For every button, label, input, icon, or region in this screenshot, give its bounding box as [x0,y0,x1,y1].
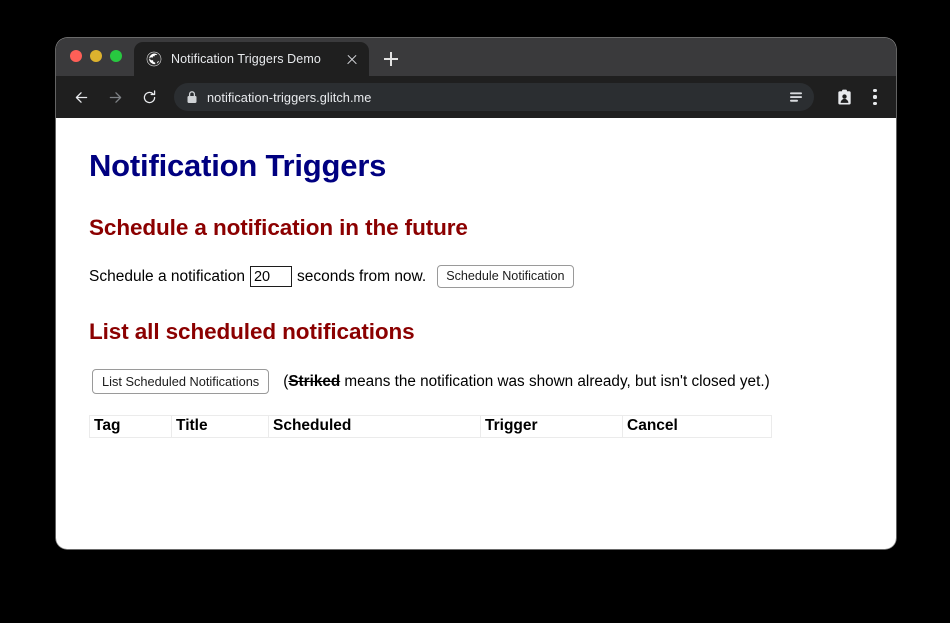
address-bar-url: notification-triggers.glitch.me [207,90,786,105]
minimize-window-button[interactable] [90,50,102,62]
profile-card-icon[interactable] [830,88,858,107]
menu-dot [873,95,876,98]
plus-icon[interactable] [377,45,405,73]
reading-list-icon[interactable] [786,88,806,106]
tab-strip: Notification Triggers Demo [56,38,896,76]
notifications-table: Tag Title Scheduled Trigger Cancel [89,415,772,438]
table-header-trigger: Trigger [481,416,623,438]
browser-toolbar: notification-triggers.glitch.me [56,76,896,118]
table-header-row: Tag Title Scheduled Trigger Cancel [90,416,772,438]
seconds-input[interactable] [250,266,292,287]
list-scheduled-notifications-button[interactable]: List Scheduled Notifications [92,369,269,394]
list-form-row: List Scheduled Notifications (Striked me… [89,369,880,394]
lock-icon [186,90,198,104]
table-header-title: Title [172,416,269,438]
maximize-window-button[interactable] [110,50,122,62]
schedule-label-before: Schedule a notification [89,268,245,286]
table-header-cancel: Cancel [623,416,772,438]
list-note-rest: means the notification was shown already… [340,373,769,390]
window-traffic-lights [70,50,122,62]
close-icon[interactable] [343,50,361,68]
browser-tab-active[interactable]: Notification Triggers Demo [134,42,369,76]
list-note: (Striked means the notification was show… [283,373,769,391]
schedule-label-after: seconds from now. [297,268,426,286]
table-header-scheduled: Scheduled [269,416,481,438]
table-header-tag: Tag [90,416,172,438]
menu-dot [873,89,876,92]
address-bar[interactable]: notification-triggers.glitch.me [174,83,814,111]
schedule-form-row: Schedule a notification seconds from now… [89,265,880,288]
back-arrow-icon[interactable] [66,82,96,112]
schedule-notification-button[interactable]: Schedule Notification [437,265,573,288]
browser-tab-title: Notification Triggers Demo [171,52,337,66]
page-viewport: Notification Triggers Schedule a notific… [56,118,896,549]
browser-window: Notification Triggers Demo [56,38,896,549]
reload-icon[interactable] [134,82,164,112]
schedule-section-heading: Schedule a notification in the future [89,215,880,241]
page-title: Notification Triggers [89,148,880,184]
list-section-heading: List all scheduled notifications [89,319,880,345]
forward-arrow-icon [100,82,130,112]
three-dot-menu-icon[interactable] [864,83,886,111]
page-content: Notification Triggers Schedule a notific… [56,118,896,454]
list-note-striked-word: Striked [288,373,340,390]
close-window-button[interactable] [70,50,82,62]
globe-icon [146,51,162,67]
menu-dot [873,102,876,105]
